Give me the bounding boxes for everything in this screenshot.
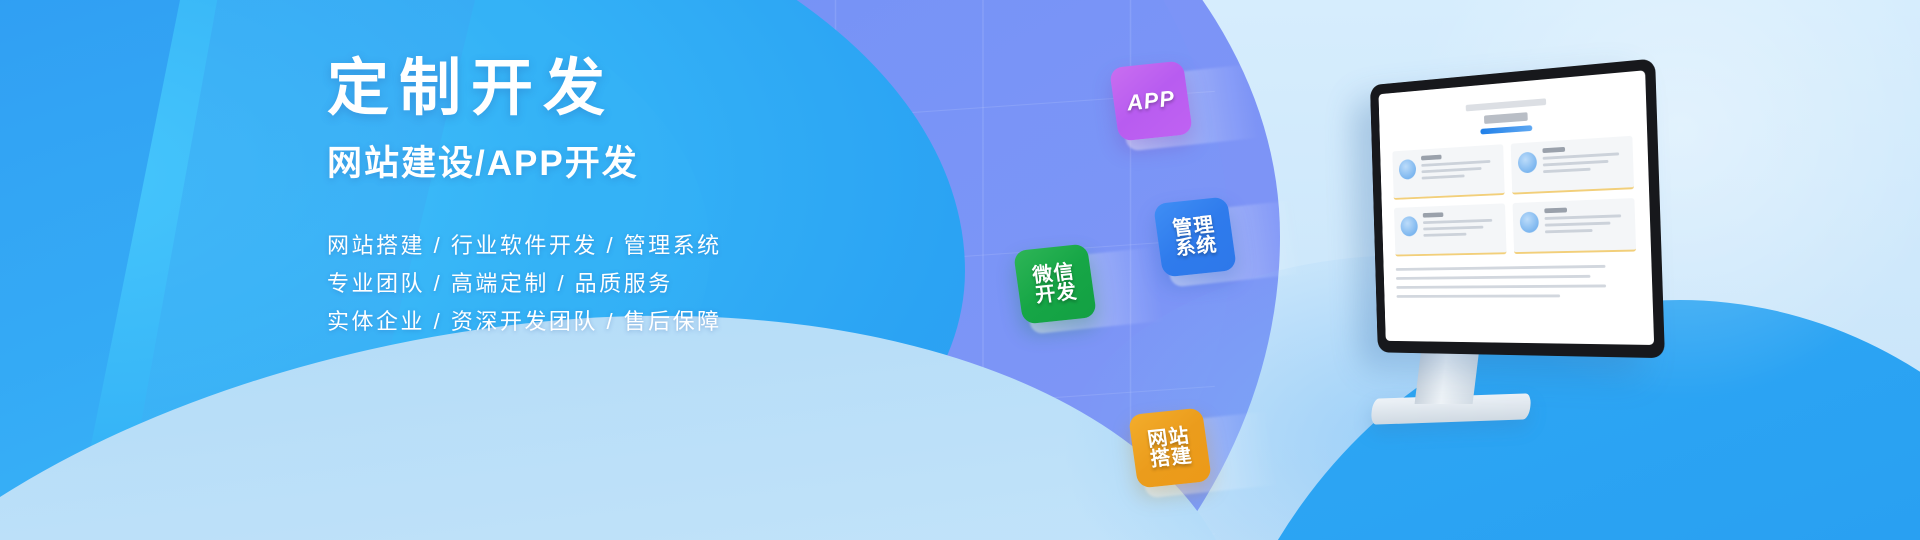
mock-card-text <box>1544 205 1629 245</box>
mock-card <box>1394 203 1506 256</box>
service-card-system-label-2: 系统 <box>1174 235 1219 260</box>
mock-card-line <box>1545 229 1593 233</box>
promo-banner: 定制开发 网站建设/APP开发 网站搭建 / 行业软件开发 / 管理系统 专业团… <box>0 0 1920 540</box>
mock-card-line <box>1423 233 1466 237</box>
mock-card-text <box>1542 143 1626 184</box>
mock-card <box>1512 198 1636 254</box>
feature-line-2: 专业团队 / 高端定制 / 品质服务 <box>327 265 887 303</box>
mock-paragraph-line <box>1396 275 1590 280</box>
mock-card-icon <box>1517 152 1536 174</box>
mock-paragraph-line <box>1396 284 1605 288</box>
mock-card-text <box>1421 151 1497 190</box>
service-card-app[interactable]: APP <box>1109 60 1193 141</box>
mock-paragraph-line <box>1397 294 1561 297</box>
mock-paragraph-line <box>1396 265 1605 271</box>
service-card-website-label-2: 搭建 <box>1149 446 1194 471</box>
sub-headline: 网站建设/APP开发 <box>327 146 887 181</box>
mock-card-heading <box>1421 155 1442 161</box>
mock-body-text <box>1396 264 1638 297</box>
mock-card-line <box>1422 174 1465 179</box>
mock-card <box>1510 136 1634 195</box>
monitor-bezel <box>1370 58 1665 358</box>
mock-page-subtitle <box>1484 112 1528 124</box>
monitor-stand-neck <box>1415 348 1480 404</box>
mock-card-icon <box>1400 216 1418 236</box>
headline: 定制开发 <box>327 58 887 120</box>
mock-card-line <box>1544 222 1610 227</box>
mock-card-line <box>1542 152 1618 159</box>
desktop-monitor <box>1370 58 1665 358</box>
service-card-wechat-label-2: 开发 <box>1034 282 1079 307</box>
monitor-screen <box>1379 70 1655 345</box>
service-card-wechat-dev[interactable]: 微信 开发 <box>1013 243 1097 324</box>
mock-page-title <box>1466 98 1547 111</box>
mock-card-line <box>1543 168 1591 173</box>
service-card-website-build[interactable]: 网站 搭建 <box>1128 407 1212 488</box>
mock-card-line <box>1421 160 1490 167</box>
copy-block: 定制开发 网站建设/APP开发 网站搭建 / 行业软件开发 / 管理系统 专业团… <box>327 58 887 340</box>
mock-card-line <box>1423 226 1483 231</box>
mock-card-heading <box>1544 208 1567 214</box>
feature-list: 网站搭建 / 行业软件开发 / 管理系统 专业团队 / 高端定制 / 品质服务 … <box>327 227 887 340</box>
service-card-app-label: APP <box>1125 87 1176 114</box>
mock-card-line <box>1421 167 1481 173</box>
mock-card-icon <box>1399 159 1417 180</box>
mock-card <box>1392 144 1504 200</box>
feature-line-3: 实体企业 / 资深开发团队 / 售后保障 <box>327 303 887 341</box>
mock-card-heading <box>1542 147 1565 153</box>
mock-card-icon <box>1519 212 1538 234</box>
mock-card-text <box>1423 210 1499 247</box>
mock-card-heading <box>1423 212 1444 217</box>
mock-card-line <box>1423 219 1492 224</box>
mock-title-underline <box>1480 125 1532 134</box>
mock-card-line <box>1544 214 1621 220</box>
feature-line-1: 网站搭建 / 行业软件开发 / 管理系统 <box>327 227 887 265</box>
mock-card-line <box>1542 160 1608 167</box>
mock-card-grid <box>1392 136 1636 257</box>
